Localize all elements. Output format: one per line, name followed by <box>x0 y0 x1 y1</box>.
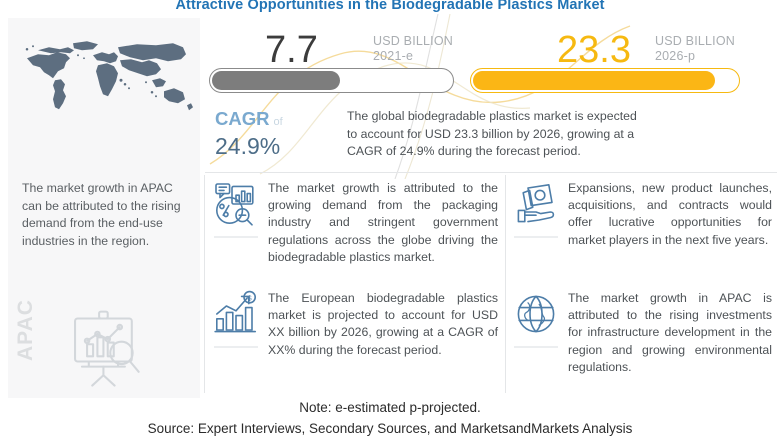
cagr-of-text: of <box>273 116 282 128</box>
year-label-right: 2026-p <box>655 49 735 64</box>
market-size-2021-value: 7.7 <box>265 30 318 70</box>
page-title: Attractive Opportunities in the Biodegra… <box>0 0 780 17</box>
cagr-block: CAGRof 24.9% <box>215 108 340 159</box>
block-underline <box>214 236 258 238</box>
insight-text: The European biodegradable plastics mark… <box>268 290 498 359</box>
globe-icon <box>512 290 560 338</box>
market-size-2021-unit: USD BILLION 2021-e <box>373 34 453 64</box>
insight-text: The market growth in APAC is attributed … <box>568 290 772 376</box>
cagr-label: CAGRof <box>215 108 340 133</box>
progress-bar-2021 <box>209 68 454 93</box>
year-label-left: 2021-e <box>373 49 453 64</box>
hand-money-icon <box>512 180 560 228</box>
bar-chart-growth-icon: $ <box>212 290 260 338</box>
block-underline <box>214 346 258 348</box>
note-line: Note: e-estimated p-projected. <box>0 400 780 415</box>
block-underline <box>514 236 558 238</box>
insight-text: Expansions, new product launches, acquis… <box>568 180 772 249</box>
market-size-2026-value: 23.3 <box>557 30 631 70</box>
chart-percent-search-icon <box>212 180 260 228</box>
progress-bar-2021-fill <box>212 71 340 90</box>
divider-vertical-left <box>204 175 205 393</box>
apac-note-text: The market growth in APAC can be attribu… <box>22 180 192 250</box>
progress-bar-2026 <box>470 68 740 93</box>
block-underline <box>514 346 558 348</box>
divider-vertical-right <box>505 175 506 393</box>
page-title-text: Attractive Opportunities in the Biodegra… <box>0 0 780 15</box>
insight-block-market-growth-drivers: The market growth is attributed to the g… <box>212 180 500 266</box>
infographic-root: Attractive Opportunities in the Biodegra… <box>0 0 780 440</box>
unit-label-left: USD BILLION <box>373 34 453 49</box>
svg-text:$: $ <box>248 293 252 302</box>
world-map-icon <box>18 32 193 132</box>
apac-watermark-label: APAC <box>14 290 38 370</box>
progress-bar-2026-fill <box>473 71 715 90</box>
cagr-value: 24.9% <box>215 133 340 159</box>
cagr-label-text: CAGR <box>215 108 269 129</box>
presentation-chart-search-icon <box>63 303 149 389</box>
insight-block-european-market: $ The European biodegradable plastics ma… <box>212 290 500 359</box>
divider-horizontal-top <box>205 172 777 173</box>
insight-block-apac-investments: The market growth in APAC is attributed … <box>512 290 774 376</box>
insight-text: The market growth is attributed to the g… <box>268 180 498 266</box>
insight-block-expansions-opportunities: Expansions, new product launches, acquis… <box>512 180 774 249</box>
unit-label-right: USD BILLION <box>655 34 735 49</box>
kpi-summary-paragraph: The global biodegradable plastics market… <box>347 108 647 161</box>
market-size-2026-unit: USD BILLION 2026-p <box>655 34 735 64</box>
kpi-summary-zone: 7.7 USD BILLION 2021-e 23.3 USD BILLION … <box>205 22 777 172</box>
source-line: Source: Expert Interviews, Secondary Sou… <box>0 421 780 436</box>
left-region-panel: The market growth in APAC can be attribu… <box>8 18 200 398</box>
